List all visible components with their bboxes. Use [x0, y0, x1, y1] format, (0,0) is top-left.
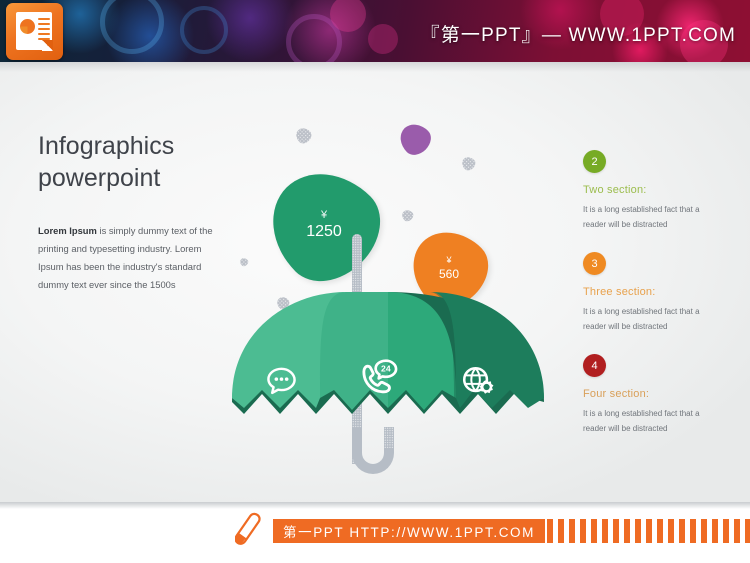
pencil-icon [235, 512, 265, 546]
currency-symbol: ¥ [321, 208, 327, 222]
section-body: It is a long established fact that a rea… [583, 406, 723, 436]
bokeh-circle [286, 14, 342, 62]
bokeh-circle [368, 24, 398, 54]
bokeh-circle [100, 0, 164, 54]
section-list: 2 Two section: It is a long established … [583, 150, 733, 456]
footer-stripe-bars [536, 519, 750, 543]
footer-url-label: 第一PPT HTTP://WWW.1PPT.COM [273, 519, 545, 543]
section-title: Four section: [583, 388, 733, 400]
section-item-4[interactable]: 4 Four section: It is a long established… [583, 354, 733, 436]
section-body: It is a long established fact that a rea… [583, 202, 723, 232]
section-item-3[interactable]: 3 Three section: It is a long establishe… [583, 252, 733, 334]
logo-pie-icon [20, 19, 35, 34]
slide-stage: Infographics powerpoint Lorem Ipsum is s… [0, 62, 750, 502]
chat-bubble-icon[interactable] [265, 364, 298, 397]
page-title: Infographics powerpoint [38, 130, 298, 194]
section-number-badge: 3 [583, 252, 606, 275]
phone-24-support-icon[interactable]: 24 [356, 356, 400, 400]
bokeh-circle [180, 6, 228, 54]
raindrop-small [400, 208, 416, 224]
slide-root: 『第一PPT』— WWW.1PPT.COM Infographics power… [0, 0, 750, 563]
section-item-2[interactable]: 2 Two section: It is a long established … [583, 150, 733, 232]
globe-support-icon[interactable] [460, 364, 494, 398]
section-body: It is a long established fact that a rea… [583, 304, 723, 334]
section-title: Three section: [583, 286, 733, 298]
bokeh-circle [330, 0, 366, 32]
section-title: Two section: [583, 184, 733, 196]
section-number-badge: 2 [583, 150, 606, 173]
logo-lines-icon [38, 18, 50, 43]
svg-text:24: 24 [381, 364, 391, 374]
raindrop-purple [394, 118, 436, 160]
intro-paragraph-lead: Lorem Ipsum [38, 225, 97, 236]
brand-title: 『第一PPT』— WWW.1PPT.COM [421, 20, 736, 47]
section-number-badge: 4 [583, 354, 606, 377]
powerpoint-document-icon[interactable] [6, 3, 63, 60]
umbrella-graphic: 24 [228, 232, 548, 507]
raindrop-small [459, 154, 477, 172]
top-banner: 『第一PPT』— WWW.1PPT.COM [0, 0, 750, 62]
intro-paragraph: Lorem Ipsum is simply dummy text of the … [38, 222, 218, 294]
